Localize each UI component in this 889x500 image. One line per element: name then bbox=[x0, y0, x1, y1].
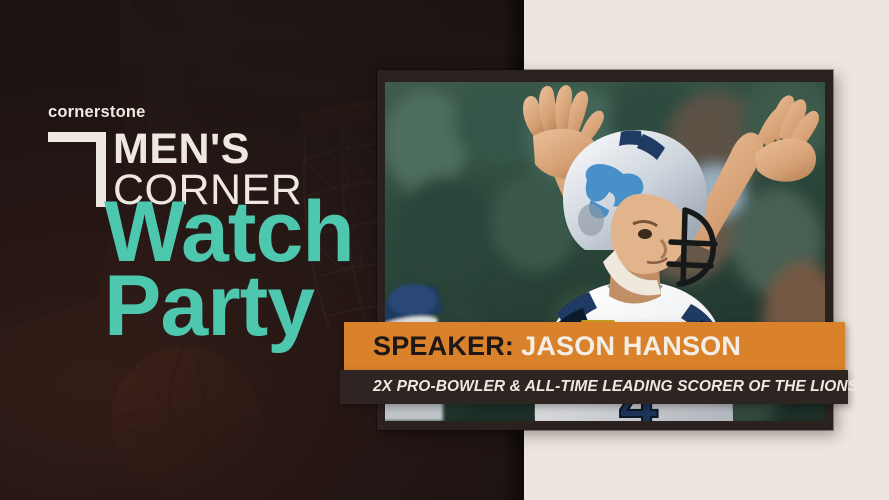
corner-bracket-icon bbox=[48, 132, 106, 207]
speaker-credentials-bar: 2X PRO-BOWLER & ALL-TIME LEADING SCORER … bbox=[340, 370, 848, 404]
promo-graphic-canvas: SPALDING cornerstone MEN'S CORNER Watch … bbox=[0, 0, 889, 500]
speaker-credentials-text: 2X PRO-BOWLER & ALL-TIME LEADING SCORER … bbox=[373, 378, 858, 396]
logo-line-mens: MEN'S bbox=[113, 130, 317, 170]
speaker-label: SPEAKER: bbox=[373, 331, 514, 361]
speaker-banner-text: SPEAKER:JASON HANSON bbox=[373, 331, 741, 362]
speaker-name-banner: SPEAKER:JASON HANSON bbox=[344, 322, 845, 370]
brand-eyebrow-text: cornerstone bbox=[48, 104, 317, 121]
speaker-name: JASON HANSON bbox=[521, 331, 741, 361]
